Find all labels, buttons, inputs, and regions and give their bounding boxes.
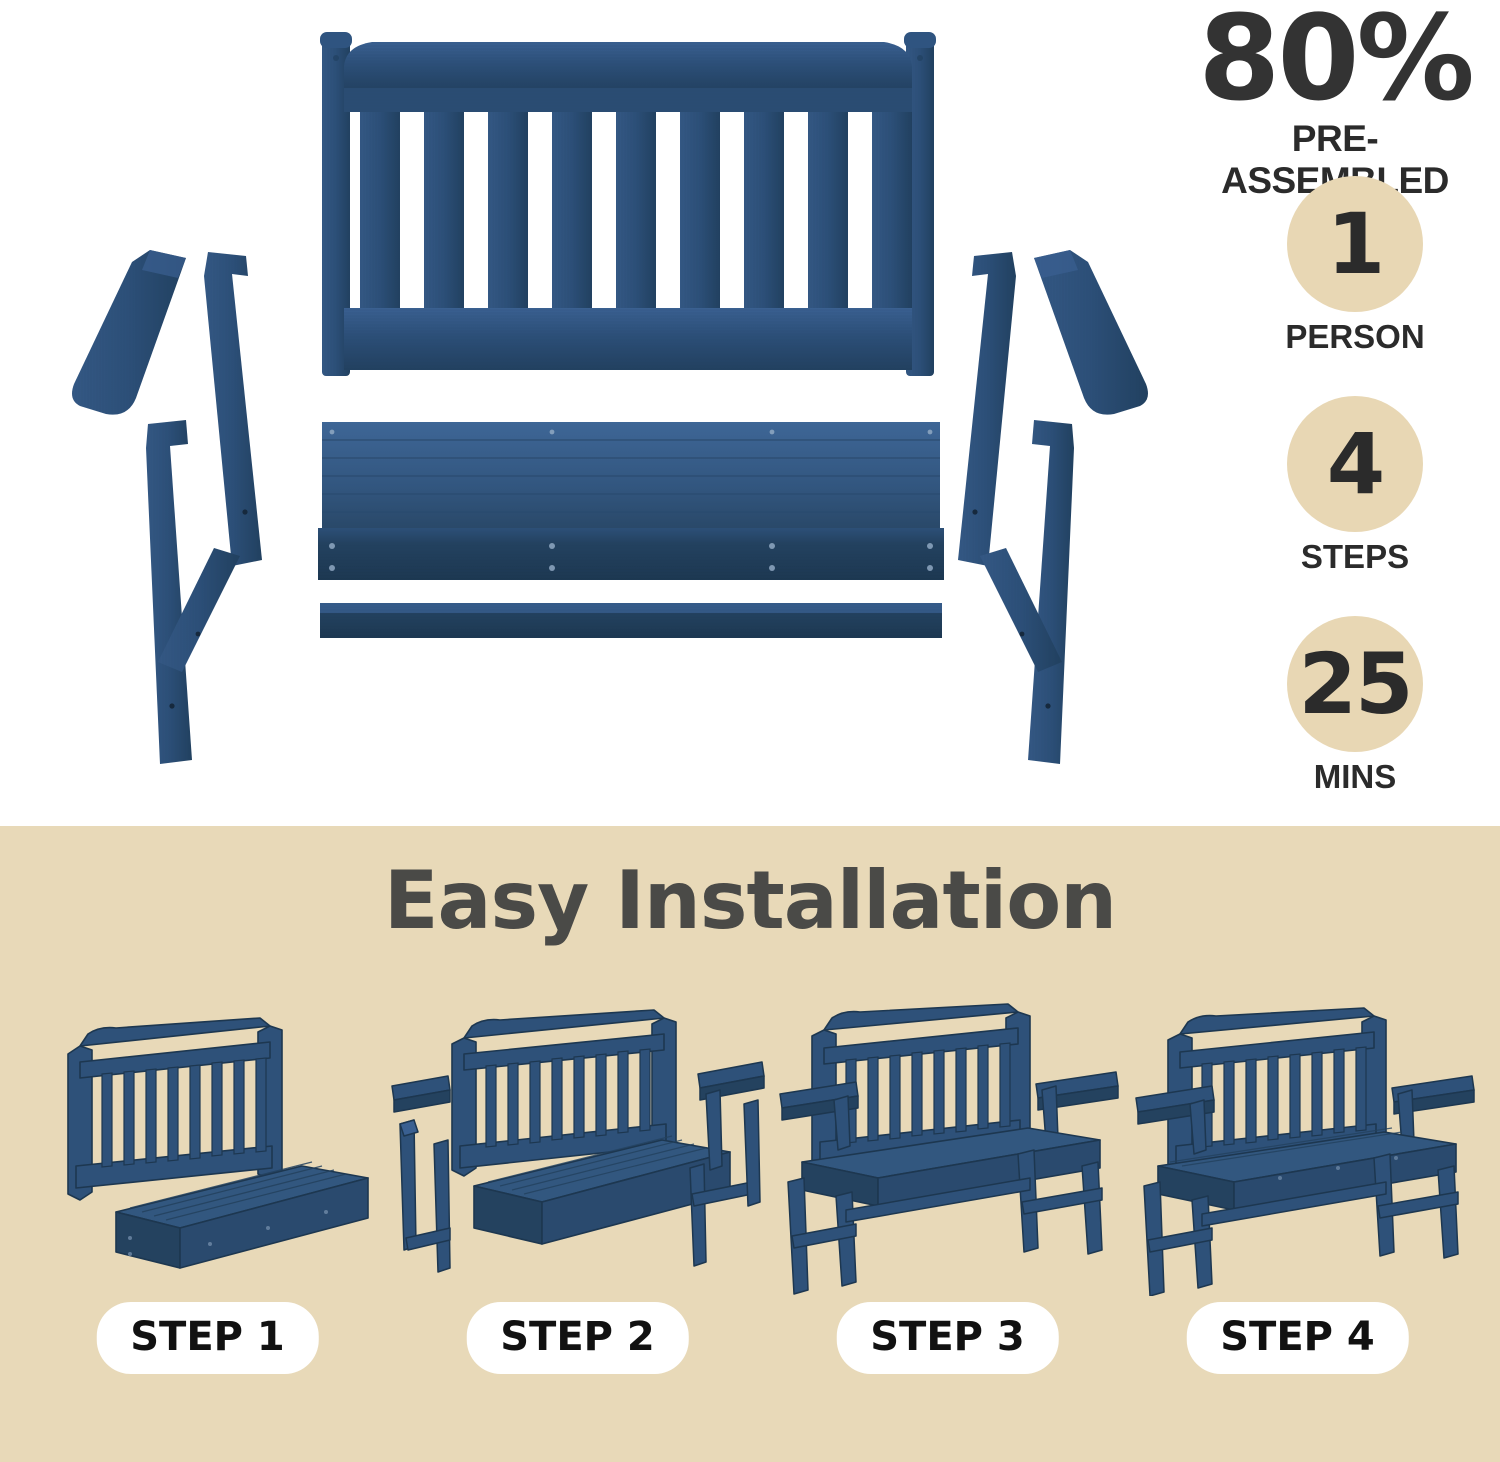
stat-label: MINS [1265, 758, 1445, 796]
bench-complete-icon [1110, 996, 1485, 1296]
bench-frame-assembled-icon [760, 996, 1135, 1296]
support-bar [320, 603, 942, 638]
exploded-parts-diagram [0, 0, 1220, 826]
step-label-1: STEP 1 [96, 1302, 319, 1374]
backrest-slats [360, 112, 912, 310]
right-front-leg [1028, 420, 1074, 764]
exploded-parts-svg [0, 0, 1220, 826]
install-step-1: STEP 1 [20, 996, 395, 1426]
bench-backrest-and-seat-icon [20, 996, 395, 1296]
left-front-leg [146, 420, 192, 764]
parts-overview-section: 80% PRE-ASSEMBLED 1 PERSON 4 STEPS 25 MI… [0, 0, 1500, 826]
stat-label: PERSON [1265, 318, 1445, 356]
install-step-2: STEP 2 [390, 996, 765, 1426]
steps-badge-icon: 4 [1287, 396, 1423, 532]
stat-label: STEPS [1265, 538, 1445, 576]
headline-block: 80% PRE-ASSEMBLED [1185, 2, 1485, 202]
right-armrest [1034, 250, 1148, 415]
backrest-panel [320, 32, 936, 376]
stat-badge-person: 1 PERSON [1265, 176, 1445, 356]
stat-number: 25 [1299, 642, 1412, 726]
step-label-3: STEP 3 [836, 1302, 1059, 1374]
stat-badge-steps: 4 STEPS [1265, 396, 1445, 576]
pre-assembled-percent: 80% [1185, 2, 1485, 114]
easy-installation-section: Easy Installation [0, 826, 1500, 1462]
installation-title: Easy Installation [0, 854, 1500, 947]
install-step-4: STEP 4 [1110, 996, 1485, 1426]
person-badge-icon: 1 [1287, 176, 1423, 312]
right-rear-leg [958, 252, 1016, 566]
infographic-page: 80% PRE-ASSEMBLED 1 PERSON 4 STEPS 25 MI… [0, 0, 1500, 1462]
step-label-4: STEP 4 [1186, 1302, 1409, 1374]
install-step-3: STEP 3 [760, 996, 1135, 1426]
left-armrest [72, 250, 186, 415]
seat-panel [318, 422, 944, 580]
bench-legs-armrests-exploded-icon [390, 996, 765, 1296]
left-rear-leg [204, 252, 262, 566]
stat-badge-mins: 25 MINS [1265, 616, 1445, 796]
stat-number: 1 [1327, 202, 1383, 286]
time-badge-icon: 25 [1287, 616, 1423, 752]
stat-number: 4 [1327, 422, 1383, 506]
step-label-2: STEP 2 [466, 1302, 689, 1374]
